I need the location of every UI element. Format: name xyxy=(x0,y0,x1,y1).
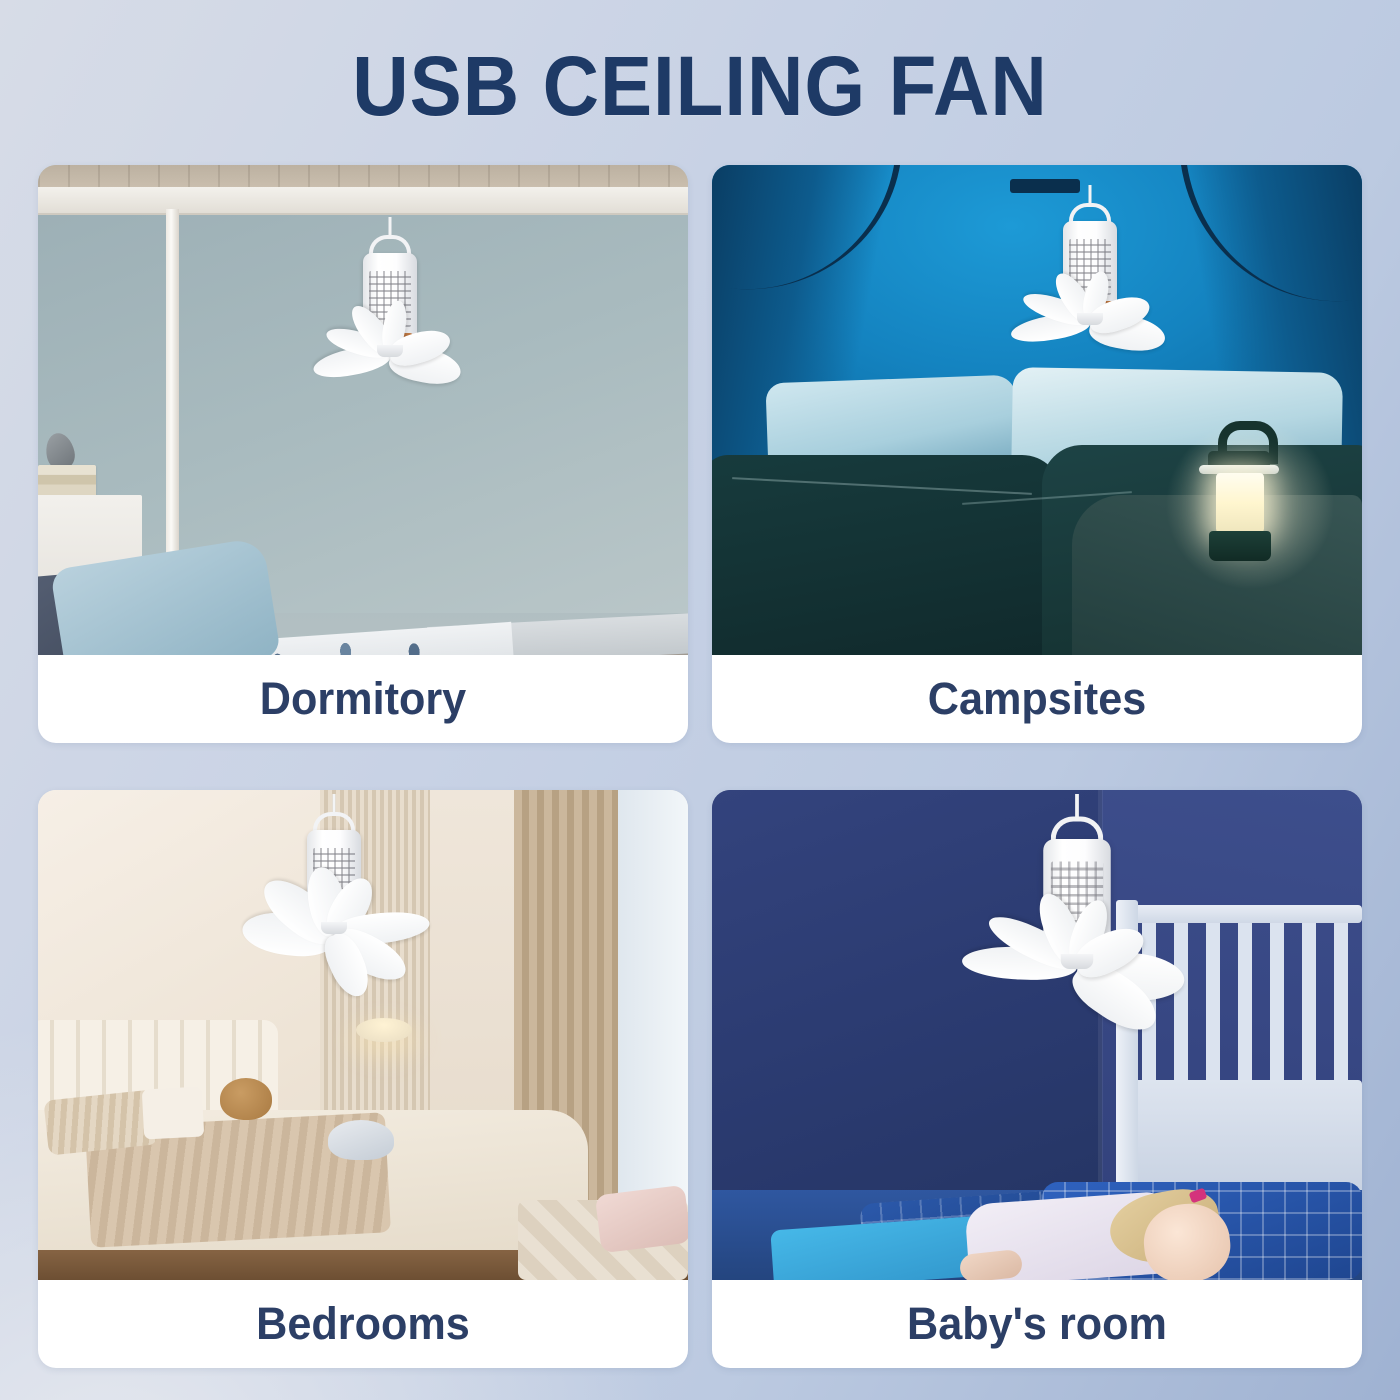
wall-sconce-light xyxy=(356,1018,412,1042)
card-grid: Dormitory xyxy=(38,165,1362,1365)
baby-room-scene xyxy=(712,790,1362,1280)
book-stack xyxy=(38,465,96,497)
dormitory-photo xyxy=(38,165,688,655)
card-caption-campsites: Campsites xyxy=(725,655,1349,743)
card-caption-baby-room: Baby's room xyxy=(725,1280,1349,1368)
lantern-base xyxy=(1209,531,1271,561)
bunk-rail xyxy=(38,187,688,215)
card-baby-room[interactable]: Baby's room xyxy=(712,790,1362,1368)
fan-hub xyxy=(1061,954,1094,969)
teddy-bear-toy xyxy=(220,1078,272,1120)
infographic-page: USB CEILING FAN xyxy=(0,0,1400,1400)
card-caption-bedrooms: Bedrooms xyxy=(51,1280,675,1368)
ceiling-fan-device xyxy=(330,217,450,387)
bench-pillow xyxy=(595,1185,688,1254)
card-campsites[interactable]: Campsites xyxy=(712,165,1362,743)
campsite-scene xyxy=(712,165,1362,655)
card-caption-dormitory: Dormitory xyxy=(51,655,675,743)
baby-room-photo xyxy=(712,790,1362,1280)
fan-hub xyxy=(377,345,403,357)
page-title: USB CEILING FAN xyxy=(49,38,1351,134)
bunk-post xyxy=(166,209,179,559)
upper-bunk-mattress xyxy=(38,165,688,189)
fan-hub xyxy=(1077,313,1103,325)
ceiling-fan-device xyxy=(983,794,1171,1044)
campsite-photo xyxy=(712,165,1362,655)
card-bedrooms[interactable]: Bedrooms xyxy=(38,790,688,1368)
dormitory-scene xyxy=(38,165,688,655)
bedroom-photo xyxy=(38,790,688,1280)
card-dormitory[interactable]: Dormitory xyxy=(38,165,688,743)
plush-toy xyxy=(328,1120,394,1160)
bedroom-scene xyxy=(38,790,688,1280)
ceiling-fan-device xyxy=(274,794,394,964)
fan-hub xyxy=(321,922,347,934)
accent-pillow xyxy=(142,1086,205,1139)
camping-lantern-icon xyxy=(1216,473,1264,533)
ceiling-fan-device xyxy=(1030,185,1150,355)
